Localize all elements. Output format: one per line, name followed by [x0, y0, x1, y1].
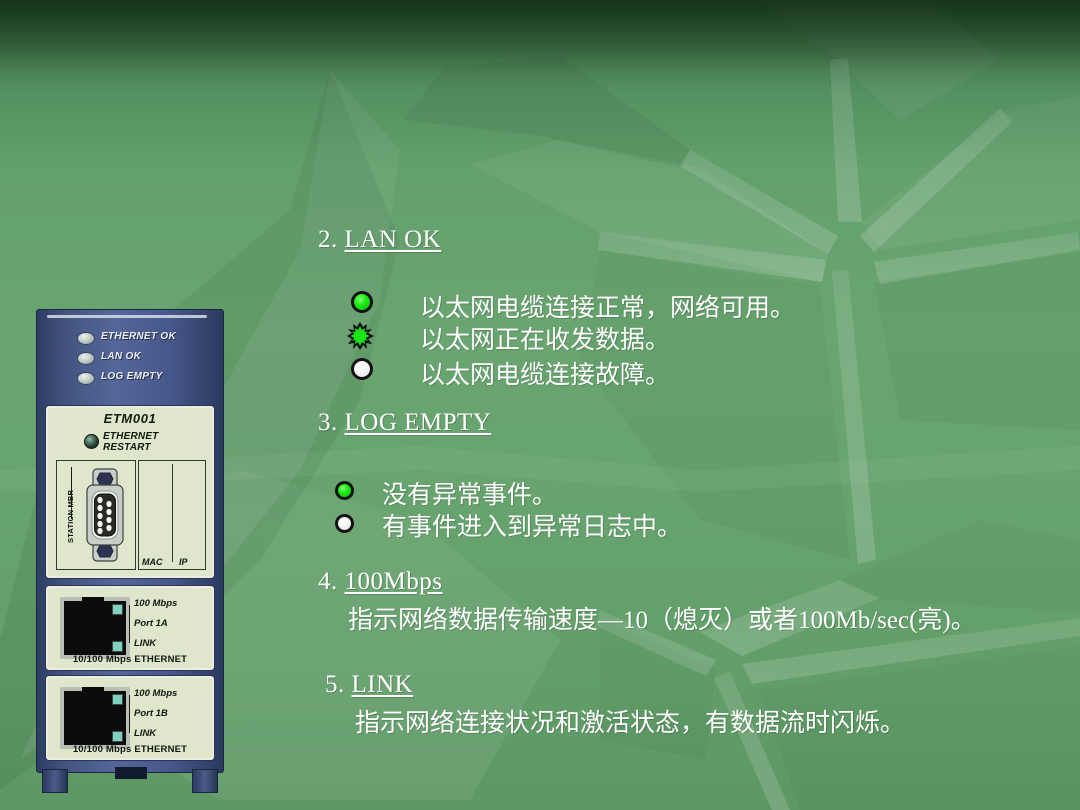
led-bullet-on [351, 291, 373, 313]
section-5-description: 指示网络连接状况和激活状态，有数据流时闪烁。 [355, 703, 905, 739]
section-2-title: LAN OK [345, 226, 442, 253]
section-3-title: LOG EMPTY [345, 409, 492, 436]
led-bullet-on [335, 481, 354, 500]
section-3-number: 3. [318, 409, 338, 436]
section-3-heading: 3. LOG EMPTY [318, 409, 491, 437]
section-2-item-1-text: 以太网电缆连接正常，网络可用。 [420, 288, 795, 324]
section-3-item-2-text: 有事件进入到异常日志中。 [382, 507, 682, 543]
led-bullet-off [351, 358, 373, 380]
section-4-heading: 4. 100Mbps [318, 568, 442, 596]
slide-content: 2. LAN OK 以太网电缆连接正常，网络可用。 以太网正在收发数据。 以太网… [0, 0, 1080, 810]
section-5-title: LINK [352, 671, 414, 698]
led-bullet-blinking [347, 321, 375, 351]
slide-canvas: ETHERNET OK LAN OK LOG EMPTY ETM001 ETHE… [0, 0, 1080, 810]
section-2-item-2-text: 以太网正在收发数据。 [420, 320, 670, 356]
led-bullet-off [335, 514, 354, 533]
section-4-description: 指示网络数据传输速度—10（熄灭）或者100Mb/sec(亮)。 [348, 600, 976, 636]
section-2-item-3-text: 以太网电缆连接故障。 [420, 355, 670, 391]
section-3-item-1-text: 没有异常事件。 [382, 475, 557, 511]
section-2-number: 2. [318, 226, 338, 253]
section-2-heading: 2. LAN OK [318, 226, 441, 254]
section-5-number: 5. [325, 671, 345, 698]
section-4-title: 100Mbps [345, 568, 443, 595]
section-4-number: 4. [318, 568, 338, 595]
section-5-heading: 5. LINK [325, 671, 413, 699]
